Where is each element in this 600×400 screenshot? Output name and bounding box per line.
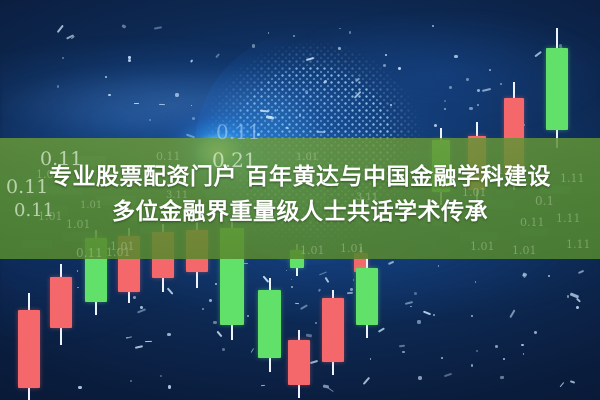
headline-line-1: 专业股票配资门户 百年黄达与中国金融学科建设	[0, 160, 600, 194]
floating-number: 0.11	[76, 246, 103, 260]
floating-number: 1.11	[566, 238, 591, 251]
floating-number: 0.11	[216, 120, 261, 144]
floating-number: 1.01	[106, 246, 131, 259]
floating-number: 1.01	[470, 240, 495, 253]
floating-number: 1.01	[340, 242, 365, 255]
headline-text: 专业股票配资门户 百年黄达与中国金融学科建设 多位金融界重量级人士共话学术传承	[0, 160, 600, 230]
headline-line-2: 多位金融界重量级人士共话学术传承	[0, 194, 600, 230]
banner-image: 0.110.110.111.011.011.011.010.111.011.01…	[0, 0, 600, 400]
floating-number: 1.01	[512, 244, 537, 257]
floating-number: 1.01	[300, 244, 325, 257]
